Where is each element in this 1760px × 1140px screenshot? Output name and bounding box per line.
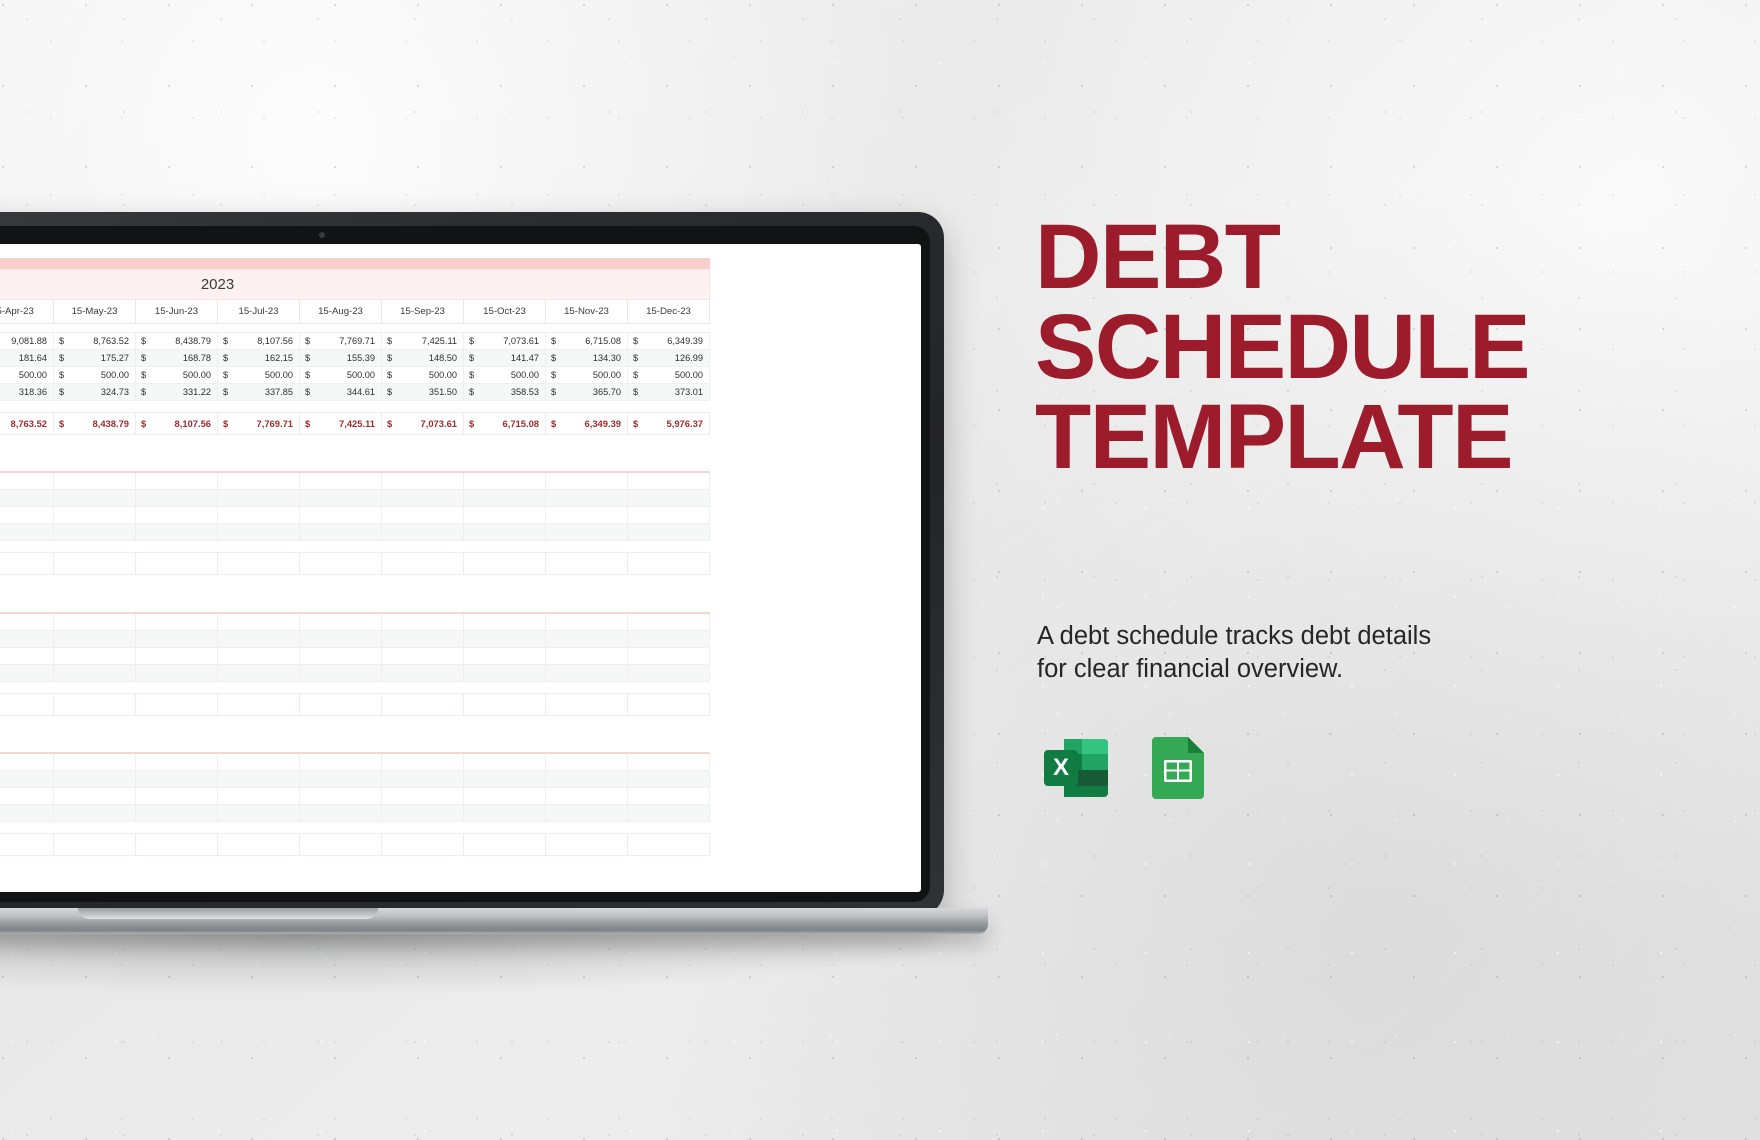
loan3-principal-cell-11[interactable] (546, 664, 628, 681)
loan2-principal-cell-5[interactable] (54, 524, 136, 541)
beginning-balance-cell-9[interactable]: $7,425.11 (382, 332, 464, 349)
table-row[interactable]: ce[5] (0, 472, 710, 490)
format-icons: X (1038, 730, 1216, 806)
table-row[interactable] (0, 541, 710, 553)
loan4-principal-cell-7[interactable] (218, 805, 300, 822)
beginning-balance-cell-7[interactable]: $8,107.56 (218, 332, 300, 349)
payment-amount-cell-5[interactable]: $500.00 (54, 366, 136, 383)
cell-value: 500.00 (551, 370, 621, 380)
table-row[interactable]: [2]$200.00 [3]$194.00$187.88$181.64$175.… (0, 349, 710, 366)
currency-symbol: $ (469, 353, 474, 363)
loan2-beginning-balance-cell-4[interactable] (0, 472, 54, 490)
table-row[interactable]: ment Amount (0, 788, 710, 805)
loan2-interest-cell-7[interactable] (218, 490, 300, 507)
interest-cell-4[interactable]: $181.64 (0, 349, 54, 366)
loan3-interest-cell-7[interactable] (218, 630, 300, 647)
currency-symbol: $ (551, 418, 556, 429)
payment-amount-cell-10[interactable]: $500.00 (464, 366, 546, 383)
loan3-beginning-balance-cell-8[interactable] (300, 613, 382, 631)
payment-amount-cell-9[interactable]: $500.00 (382, 366, 464, 383)
loan2-ending-balance-cell-8[interactable] (300, 553, 382, 575)
loan3-interest-cell-9[interactable] (382, 630, 464, 647)
loan4-principal-cell-8[interactable] (300, 805, 382, 822)
loan3-ending-balance-cell-10[interactable] (464, 693, 546, 715)
laptop-lid: U L E2023202315-Jan-2315-Feb-2315-Mar-23… (0, 212, 944, 916)
cell-value: 500.00 (305, 370, 375, 380)
loan2-principal-cell-12[interactable] (628, 524, 710, 541)
date-header-5: 15-May-23 (54, 299, 136, 323)
cell-value: 126.99 (633, 353, 703, 363)
loan4-beginning-balance-cell-5[interactable] (54, 753, 136, 771)
date-header-12: 15-Dec-23 (628, 299, 710, 323)
loan4-beginning-balance-cell-9[interactable] (382, 753, 464, 771)
currency-symbol: $ (387, 336, 392, 346)
loan3-principal-cell-8[interactable] (300, 664, 382, 681)
table-row[interactable] (0, 553, 710, 575)
loan3-ending-balance-cell-12[interactable] (628, 693, 710, 715)
loan2-payment-amount-cell-4[interactable] (0, 507, 54, 524)
loan2-payment-amount-cell-12[interactable] (628, 507, 710, 524)
cell-value: 500.00 (633, 370, 703, 380)
cell-value: 7,073.61 (469, 336, 539, 346)
excel-icon[interactable]: X (1038, 730, 1114, 806)
loan2-ending-balance-cell-5[interactable] (54, 553, 136, 575)
beginning-balance-cell-12[interactable]: $6,349.39 (628, 332, 710, 349)
table-row[interactable] (0, 693, 710, 715)
currency-symbol: $ (305, 353, 310, 363)
currency-symbol: $ (387, 353, 392, 363)
cell-value: 175.27 (59, 353, 129, 363)
date-header-8: 15-Aug-23 (300, 299, 382, 323)
cell-value: 7,769.71 (305, 336, 375, 346)
table-row[interactable]: [6][7] (0, 490, 710, 507)
ending-balance-cell-12[interactable]: $5,976.37 (628, 412, 710, 434)
loan4-payment-amount-cell-8[interactable] (300, 788, 382, 805)
currency-symbol: $ (141, 418, 146, 429)
loan2-beginning-balance-cell-5[interactable] (54, 472, 136, 490)
loan4-interest-cell-12[interactable] (628, 771, 710, 788)
loan2-beginning-balance-cell-11[interactable] (546, 472, 628, 490)
loan3-principal-cell-10[interactable] (464, 664, 546, 681)
loan4-beginning-balance-cell-4[interactable] (0, 753, 54, 771)
cell-value: 6,715.08 (469, 418, 539, 429)
table-row[interactable]: ment Amount (0, 647, 710, 664)
cell-value: 500.00 (59, 370, 129, 380)
spreadsheet-document[interactable]: U L E2023202315-Jan-2315-Feb-2315-Mar-23… (0, 244, 727, 892)
ending-balance-cell-11[interactable]: $6,349.39 (546, 412, 628, 434)
loan3-payment-amount-cell-6[interactable] (136, 647, 218, 664)
cell-value: 7,425.11 (387, 336, 457, 346)
grid-spacer (0, 323, 710, 332)
loan2-principal-cell-9[interactable] (382, 524, 464, 541)
beginning-balance-cell-11[interactable]: $6,715.08 (546, 332, 628, 349)
ending-balance-cell-6[interactable]: $8,107.56 (136, 412, 218, 434)
payment-amount-cell-4[interactable]: $500.00 (0, 366, 54, 383)
currency-symbol: $ (141, 387, 146, 397)
table-row[interactable] (0, 575, 710, 609)
currency-symbol: $ (387, 370, 392, 380)
table-row[interactable]: $9,700.00$9,394.00$9,081.88$8,763.52$8,4… (0, 412, 710, 434)
currency-symbol: $ (305, 336, 310, 346)
loan3-beginning-balance-cell-6[interactable] (136, 613, 218, 631)
cell-value: 373.01 (633, 387, 703, 397)
loan3-payment-amount-cell-9[interactable] (382, 647, 464, 664)
loan2-payment-amount-cell-9[interactable] (382, 507, 464, 524)
cell-value: 6,715.08 (551, 336, 621, 346)
loan4-principal-cell-10[interactable] (464, 805, 546, 822)
loan4-interest-cell-5[interactable] (54, 771, 136, 788)
loan2-payment-amount-cell-11[interactable] (546, 507, 628, 524)
cell-value: 500.00 (0, 370, 47, 380)
date-header-9: 15-Sep-23 (382, 299, 464, 323)
loan4-payment-amount-cell-12[interactable] (628, 788, 710, 805)
table-row[interactable]: 202315-Jan-2315-Feb-2315-Mar-2315-Apr-23… (0, 299, 710, 323)
cell-value: 181.64 (0, 353, 47, 363)
table-row[interactable]: ce[9] (0, 613, 710, 631)
loan3-beginning-balance-cell-10[interactable] (464, 613, 546, 631)
loan4-interest-cell-10[interactable] (464, 771, 546, 788)
table-row[interactable]: U L E2023 (0, 269, 710, 299)
table-row[interactable]: Principal[8] (0, 524, 710, 541)
currency-symbol: $ (633, 353, 638, 363)
page-title: DEBT SCHEDULE TEMPLATE (1035, 212, 1655, 482)
cell-value: 7,769.71 (223, 418, 293, 429)
loan3-beginning-balance-cell-12[interactable] (628, 613, 710, 631)
loan2-ending-balance-cell-12[interactable] (628, 553, 710, 575)
loan2-payment-amount-cell-8[interactable] (300, 507, 382, 524)
loan3-payment-amount-cell-8[interactable] (300, 647, 382, 664)
loan3-principal-cell-9[interactable] (382, 664, 464, 681)
loan2-interest-cell-6[interactable] (136, 490, 218, 507)
loan3-payment-amount-cell-12[interactable] (628, 647, 710, 664)
table-row[interactable] (0, 715, 710, 749)
google-sheets-icon[interactable] (1140, 730, 1216, 806)
loan4-beginning-balance-cell-6[interactable] (136, 753, 218, 771)
loan3-ending-balance-cell-4[interactable] (0, 693, 54, 715)
loan2-payment-amount-cell-7[interactable] (218, 507, 300, 524)
loan4-principal-cell-6[interactable] (136, 805, 218, 822)
loan2-interest-cell-11[interactable] (546, 490, 628, 507)
loan2-beginning-balance-cell-9[interactable] (382, 472, 464, 490)
beginning-balance-cell-5[interactable]: $8,763.52 (54, 332, 136, 349)
interest-cell-7[interactable]: $162.15 (218, 349, 300, 366)
loan4-beginning-balance-cell-7[interactable] (218, 753, 300, 771)
loan2-interest-cell-10[interactable] (464, 490, 546, 507)
loan2-beginning-balance-cell-6[interactable] (136, 472, 218, 490)
loan4-principal-cell-11[interactable] (546, 805, 628, 822)
loan2-principal-cell-6[interactable] (136, 524, 218, 541)
principal-cell-10[interactable]: $358.53 (464, 383, 546, 400)
loan4-payment-amount-cell-10[interactable] (464, 788, 546, 805)
loan2-principal-cell-11[interactable] (546, 524, 628, 541)
cell-value: 8,107.56 (141, 418, 211, 429)
principal-cell-11[interactable]: $365.70 (546, 383, 628, 400)
interest-cell-9[interactable]: $148.50 (382, 349, 464, 366)
loan3-interest-cell-11[interactable] (546, 630, 628, 647)
loan4-ending-balance-cell-10[interactable] (464, 834, 546, 856)
loan2-ending-balance-cell-10[interactable] (464, 553, 546, 575)
loan4-principal-cell-12[interactable] (628, 805, 710, 822)
table-row[interactable]: ment Amount (0, 507, 710, 524)
loan4-ending-balance-cell-12[interactable] (628, 834, 710, 856)
loan3-payment-amount-cell-4[interactable] (0, 647, 54, 664)
currency-symbol: $ (223, 387, 228, 397)
currency-symbol: $ (633, 370, 638, 380)
interest-cell-8[interactable]: $155.39 (300, 349, 382, 366)
currency-symbol: $ (141, 353, 146, 363)
loan3-ending-balance-cell-9[interactable] (382, 693, 464, 715)
currency-symbol: $ (59, 353, 64, 363)
cell-value: 141.47 (469, 353, 539, 363)
loan3-interest-cell-4[interactable] (0, 630, 54, 647)
loan3-principal-cell-12[interactable] (628, 664, 710, 681)
loan4-ending-balance-cell-8[interactable] (300, 834, 382, 856)
table-row[interactable] (0, 323, 710, 332)
ending-balance-cell-8[interactable]: $7,425.11 (300, 412, 382, 434)
loan2-principal-cell-8[interactable] (300, 524, 382, 541)
cell-value: 6,349.39 (551, 418, 621, 429)
section-gap (0, 575, 710, 609)
loan3-principal-cell-5[interactable] (54, 664, 136, 681)
payment-amount-cell-11[interactable]: $500.00 (546, 366, 628, 383)
date-header-11: 15-Nov-23 (546, 299, 628, 323)
cell-value: 500.00 (469, 370, 539, 380)
beginning-balance-cell-4[interactable]: $9,081.88 (0, 332, 54, 349)
loan3-payment-amount-cell-11[interactable] (546, 647, 628, 664)
currency-symbol: $ (469, 418, 474, 429)
table-row[interactable] (0, 258, 710, 269)
loan2-beginning-balance-cell-7[interactable] (218, 472, 300, 490)
ending-balance-cell-9[interactable]: $7,073.61 (382, 412, 464, 434)
loan3-principal-cell-4[interactable] (0, 664, 54, 681)
loan4-ending-balance-cell-5[interactable] (54, 834, 136, 856)
currency-symbol: $ (551, 353, 556, 363)
ending-balance-cell-4[interactable]: $8,763.52 (0, 412, 54, 434)
cell-value: 8,763.52 (59, 336, 129, 346)
interest-cell-5[interactable]: $175.27 (54, 349, 136, 366)
table-row[interactable]: Principal[12] (0, 664, 710, 681)
currency-symbol: $ (633, 387, 638, 397)
principal-cell-12[interactable]: $373.01 (628, 383, 710, 400)
debt-schedule-table[interactable]: U L E2023202315-Jan-2315-Feb-2315-Mar-23… (0, 258, 710, 856)
principal-cell-7[interactable]: $337.85 (218, 383, 300, 400)
cell-value: 351.50 (387, 387, 457, 397)
loan2-ending-balance-cell-7[interactable] (218, 553, 300, 575)
loan3-interest-cell-5[interactable] (54, 630, 136, 647)
cell-value: 324.73 (59, 387, 129, 397)
loan4-ending-balance-cell-9[interactable] (382, 834, 464, 856)
loan4-principal-cell-4[interactable] (0, 805, 54, 822)
loan4-interest-cell-11[interactable] (546, 771, 628, 788)
currency-symbol: $ (223, 353, 228, 363)
interest-cell-10[interactable]: $141.47 (464, 349, 546, 366)
loan3-payment-amount-cell-7[interactable] (218, 647, 300, 664)
cell-value: 148.50 (387, 353, 457, 363)
loan3-payment-amount-cell-10[interactable] (464, 647, 546, 664)
loan4-ending-balance-cell-6[interactable] (136, 834, 218, 856)
cell-value: 500.00 (141, 370, 211, 380)
cell-value: 7,425.11 (305, 418, 375, 429)
loan2-principal-cell-10[interactable] (464, 524, 546, 541)
table-row[interactable]: Principal[16] (0, 805, 710, 822)
laptop-screen: U L E2023202315-Jan-2315-Feb-2315-Mar-23… (0, 244, 921, 892)
loan3-principal-cell-6[interactable] (136, 664, 218, 681)
loan2-beginning-balance-cell-12[interactable] (628, 472, 710, 490)
loan3-principal-cell-7[interactable] (218, 664, 300, 681)
table-row[interactable]: Principal$300.00 [4]$306.00$312.12$318.3… (0, 383, 710, 400)
loan3-interest-cell-8[interactable] (300, 630, 382, 647)
loan3-beginning-balance-cell-7[interactable] (218, 613, 300, 631)
table-row[interactable] (0, 822, 710, 834)
loan3-ending-balance-cell-7[interactable] (218, 693, 300, 715)
loan2-principal-cell-4[interactable] (0, 524, 54, 541)
loan4-ending-balance-cell-11[interactable] (546, 834, 628, 856)
loan4-beginning-balance-cell-10[interactable] (464, 753, 546, 771)
loan2-payment-amount-cell-5[interactable] (54, 507, 136, 524)
cell-value: 168.78 (141, 353, 211, 363)
loan4-payment-amount-cell-5[interactable] (54, 788, 136, 805)
ending-balance-cell-10[interactable]: $6,715.08 (464, 412, 546, 434)
interest-cell-11[interactable]: $134.30 (546, 349, 628, 366)
section-gap (0, 434, 710, 468)
loan4-principal-cell-9[interactable] (382, 805, 464, 822)
grid-spacer (0, 400, 710, 412)
loan3-ending-balance-cell-11[interactable] (546, 693, 628, 715)
loan2-ending-balance-cell-4[interactable] (0, 553, 54, 575)
principal-cell-9[interactable]: $351.50 (382, 383, 464, 400)
loan4-payment-amount-cell-7[interactable] (218, 788, 300, 805)
loan3-interest-cell-10[interactable] (464, 630, 546, 647)
loan3-beginning-balance-cell-4[interactable] (0, 613, 54, 631)
ending-balance-cell-5[interactable]: $8,438.79 (54, 412, 136, 434)
loan3-interest-cell-6[interactable] (136, 630, 218, 647)
date-header-7: 15-Jul-23 (218, 299, 300, 323)
loan2-ending-balance-cell-11[interactable] (546, 553, 628, 575)
loan3-ending-balance-cell-6[interactable] (136, 693, 218, 715)
loan4-principal-cell-5[interactable] (54, 805, 136, 822)
loan4-payment-amount-cell-4[interactable] (0, 788, 54, 805)
table-row[interactable]: [10][11] (0, 630, 710, 647)
loan4-interest-cell-9[interactable] (382, 771, 464, 788)
principal-cell-6[interactable]: $331.22 (136, 383, 218, 400)
promo-panel: DEBT SCHEDULE TEMPLATE A debt schedule t… (1030, 0, 1760, 1140)
loan4-ending-balance-cell-7[interactable] (218, 834, 300, 856)
principal-cell-8[interactable]: $344.61 (300, 383, 382, 400)
loan4-beginning-balance-cell-11[interactable] (546, 753, 628, 771)
payment-amount-cell-6[interactable]: $500.00 (136, 366, 218, 383)
grid-spacer (0, 822, 710, 834)
table-row[interactable] (0, 400, 710, 412)
loan2-ending-balance-cell-6[interactable] (136, 553, 218, 575)
loan4-interest-cell-4[interactable] (0, 771, 54, 788)
loan4-interest-cell-8[interactable] (300, 771, 382, 788)
loan3-payment-amount-cell-5[interactable] (54, 647, 136, 664)
loan3-beginning-balance-cell-5[interactable] (54, 613, 136, 631)
currency-symbol: $ (633, 418, 638, 429)
currency-symbol: $ (141, 336, 146, 346)
interest-cell-6[interactable]: $168.78 (136, 349, 218, 366)
table-row[interactable] (0, 834, 710, 856)
currency-symbol: $ (59, 336, 64, 346)
loan4-ending-balance-cell-4[interactable] (0, 834, 54, 856)
loan3-beginning-balance-cell-9[interactable] (382, 613, 464, 631)
table-row[interactable]: [14][15] (0, 771, 710, 788)
table-row[interactable]: ce$10,000.00$9,700.00 [1]$9,394.00$9,081… (0, 332, 710, 349)
cell-value: 8,438.79 (59, 418, 129, 429)
loan4-payment-amount-cell-9[interactable] (382, 788, 464, 805)
date-header-10: 15-Oct-23 (464, 299, 546, 323)
loan4-interest-cell-7[interactable] (218, 771, 300, 788)
loan2-beginning-balance-cell-8[interactable] (300, 472, 382, 490)
principal-cell-5[interactable]: $324.73 (54, 383, 136, 400)
laptop-mockup: U L E2023202315-Jan-2315-Feb-2315-Mar-23… (0, 212, 1080, 972)
loan2-payment-amount-cell-6[interactable] (136, 507, 218, 524)
laptop-base-notch (78, 908, 378, 919)
subtitle-line-1: A debt schedule tracks debt details (1037, 620, 1557, 653)
currency-symbol: $ (59, 418, 64, 429)
table-row[interactable] (0, 681, 710, 693)
loan4-payment-amount-cell-11[interactable] (546, 788, 628, 805)
currency-symbol: $ (551, 336, 556, 346)
interest-cell-12[interactable]: $126.99 (628, 349, 710, 366)
beginning-balance-cell-10[interactable]: $7,073.61 (464, 332, 546, 349)
loan4-payment-amount-cell-6[interactable] (136, 788, 218, 805)
payment-amount-cell-12[interactable]: $500.00 (628, 366, 710, 383)
currency-symbol: $ (59, 370, 64, 380)
cell-value: 344.61 (305, 387, 375, 397)
table-row[interactable] (0, 434, 710, 468)
loan2-payment-amount-cell-10[interactable] (464, 507, 546, 524)
loan4-interest-cell-6[interactable] (136, 771, 218, 788)
cell-value: 134.30 (551, 353, 621, 363)
loan2-interest-cell-5[interactable] (54, 490, 136, 507)
payment-amount-cell-7[interactable]: $500.00 (218, 366, 300, 383)
loan2-beginning-balance-cell-10[interactable] (464, 472, 546, 490)
loan4-beginning-balance-cell-12[interactable] (628, 753, 710, 771)
beginning-balance-cell-8[interactable]: $7,769.71 (300, 332, 382, 349)
loan4-beginning-balance-cell-8[interactable] (300, 753, 382, 771)
loan2-interest-cell-4[interactable] (0, 490, 54, 507)
excel-letter: X (1053, 754, 1069, 781)
payment-amount-cell-8[interactable]: $500.00 (300, 366, 382, 383)
cell-value: 365.70 (551, 387, 621, 397)
loan2-principal-cell-7[interactable] (218, 524, 300, 541)
cell-value: 162.15 (223, 353, 293, 363)
loan2-interest-cell-9[interactable] (382, 490, 464, 507)
loan3-ending-balance-cell-8[interactable] (300, 693, 382, 715)
loan3-beginning-balance-cell-11[interactable] (546, 613, 628, 631)
cell-value: 155.39 (305, 353, 375, 363)
cell-value: 318.36 (0, 387, 47, 397)
table-row[interactable]: ce[13] (0, 753, 710, 771)
beginning-balance-cell-6[interactable]: $8,438.79 (136, 332, 218, 349)
title-line-3: TEMPLATE (1035, 392, 1655, 482)
principal-cell-4[interactable]: $318.36 (0, 383, 54, 400)
ending-balance-cell-7[interactable]: $7,769.71 (218, 412, 300, 434)
currency-symbol: $ (469, 370, 474, 380)
loan2-interest-cell-8[interactable] (300, 490, 382, 507)
loan3-ending-balance-cell-5[interactable] (54, 693, 136, 715)
cell-value: 331.22 (141, 387, 211, 397)
loan2-ending-balance-cell-9[interactable] (382, 553, 464, 575)
subtitle-line-2: for clear financial overview. (1037, 653, 1557, 686)
table-row[interactable]: ment Amount$500.00$500.00$500.00$500.00$… (0, 366, 710, 383)
page-subtitle: A debt schedule tracks debt details for … (1037, 620, 1557, 686)
cell-value: 500.00 (387, 370, 457, 380)
loan3-interest-cell-12[interactable] (628, 630, 710, 647)
loan2-interest-cell-12[interactable] (628, 490, 710, 507)
currency-symbol: $ (387, 418, 392, 429)
